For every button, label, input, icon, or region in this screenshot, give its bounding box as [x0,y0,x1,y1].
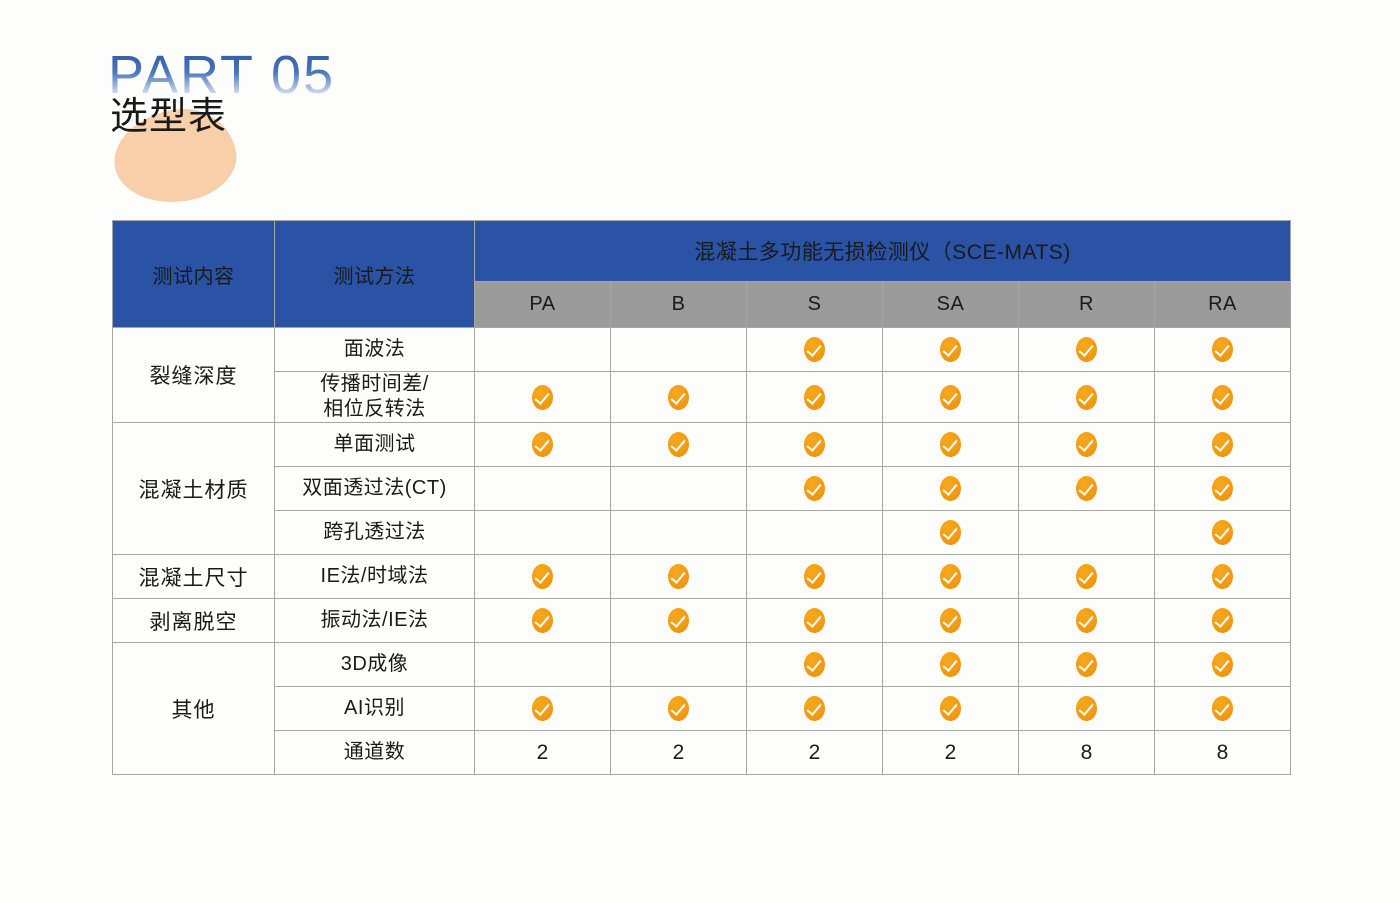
support-cell-s [747,372,883,423]
support-cell-b [611,467,747,511]
test-content-cell: 剥离脱空 [113,599,275,643]
support-cell-ra [1155,328,1291,372]
column-header-model-ra: RA [1155,282,1291,328]
check-circle-icon [532,385,553,410]
column-header-test-method: 测试方法 [275,221,475,328]
support-cell-s [747,511,883,555]
check-circle-icon [804,564,825,589]
support-cell-r [1019,328,1155,372]
support-cell-ra [1155,423,1291,467]
check-circle-icon [804,652,825,677]
support-cell-pa [475,372,611,423]
table-row: AI识别 [113,687,1291,731]
check-circle-icon [1076,432,1097,457]
check-circle-icon [1212,385,1233,410]
support-cell-b [611,599,747,643]
column-header-model-s: S [747,282,883,328]
check-circle-icon [1212,476,1233,501]
support-cell-sa [883,555,1019,599]
support-cell-pa [475,687,611,731]
check-circle-icon [1212,432,1233,457]
support-cell-s [747,643,883,687]
test-method-cell: 面波法 [275,328,475,372]
check-circle-icon [804,385,825,410]
check-circle-icon [804,432,825,457]
test-method-cell: 3D成像 [275,643,475,687]
support-cell-sa [883,372,1019,423]
check-circle-icon [940,337,961,362]
page-title: 选型表 [110,96,227,140]
support-cell-b [611,511,747,555]
support-cell-ra [1155,643,1291,687]
title-block: PART 05 选型表 [108,48,528,198]
support-cell-r [1019,687,1155,731]
check-circle-icon [532,608,553,633]
table-row: 混凝土材质单面测试 [113,423,1291,467]
check-circle-icon [1076,608,1097,633]
support-cell-ra [1155,511,1291,555]
part-number-label: PART 05 [108,48,335,102]
support-cell-r [1019,643,1155,687]
table-row: 跨孔透过法 [113,511,1291,555]
check-circle-icon [668,432,689,457]
check-circle-icon [532,432,553,457]
test-method-line: 相位反转法 [275,397,474,422]
check-circle-icon [532,696,553,721]
test-method-cell: 振动法/IE法 [275,599,475,643]
support-cell-sa [883,423,1019,467]
check-circle-icon [1212,652,1233,677]
support-cell-s [747,467,883,511]
check-circle-icon [804,696,825,721]
support-cell-r [1019,423,1155,467]
support-cell-sa [883,511,1019,555]
support-cell-ra [1155,599,1291,643]
check-circle-icon [940,696,961,721]
support-cell-b [611,687,747,731]
check-circle-icon [668,564,689,589]
test-content-cell: 裂缝深度 [113,328,275,423]
table-header: 测试内容 测试方法 混凝土多功能无损检测仪（SCE-MATS) PA B S S… [113,221,1291,328]
check-circle-icon [804,476,825,501]
support-cell-s [747,555,883,599]
support-cell-sa [883,599,1019,643]
table-row: 传播时间差/相位反转法 [113,372,1291,423]
support-cell-sa [883,467,1019,511]
table-row: 通道数222288 [113,731,1291,775]
support-cell-r [1019,467,1155,511]
check-circle-icon [940,476,961,501]
support-cell-sa: 2 [883,731,1019,775]
check-circle-icon [940,564,961,589]
check-circle-icon [1212,696,1233,721]
check-circle-icon [532,564,553,589]
support-cell-s: 2 [747,731,883,775]
support-cell-pa [475,599,611,643]
table-row: 裂缝深度面波法 [113,328,1291,372]
support-cell-ra [1155,555,1291,599]
support-cell-b [611,423,747,467]
table-row: 双面透过法(CT) [113,467,1291,511]
column-header-product-group: 混凝土多功能无损检测仪（SCE-MATS) [475,221,1291,282]
column-header-model-r: R [1019,282,1155,328]
check-circle-icon [804,608,825,633]
check-circle-icon [668,608,689,633]
check-circle-icon [668,385,689,410]
support-cell-b [611,643,747,687]
support-cell-b: 2 [611,731,747,775]
check-circle-icon [1212,337,1233,362]
support-cell-r [1019,555,1155,599]
check-circle-icon [1076,696,1097,721]
support-cell-s [747,328,883,372]
check-circle-icon [1212,520,1233,545]
check-circle-icon [940,520,961,545]
table-row: 其他3D成像 [113,643,1291,687]
test-content-cell: 混凝土尺寸 [113,555,275,599]
column-header-model-pa: PA [475,282,611,328]
check-circle-icon [1076,476,1097,501]
support-cell-s [747,687,883,731]
support-cell-pa [475,555,611,599]
column-header-model-sa: SA [883,282,1019,328]
test-content-cell: 混凝土材质 [113,423,275,555]
test-method-cell: 传播时间差/相位反转法 [275,372,475,423]
support-cell-ra: 8 [1155,731,1291,775]
support-cell-s [747,599,883,643]
support-cell-b [611,372,747,423]
support-cell-r [1019,372,1155,423]
support-cell-ra [1155,372,1291,423]
support-cell-pa [475,511,611,555]
column-header-test-content: 测试内容 [113,221,275,328]
support-cell-sa [883,328,1019,372]
table-body: 裂缝深度面波法传播时间差/相位反转法混凝土材质单面测试双面透过法(CT)跨孔透过… [113,328,1291,775]
check-circle-icon [1076,652,1097,677]
support-cell-b [611,555,747,599]
support-cell-sa [883,643,1019,687]
table-row: 混凝土尺寸IE法/时域法 [113,555,1291,599]
support-cell-r [1019,511,1155,555]
check-circle-icon [1212,608,1233,633]
support-cell-ra [1155,687,1291,731]
check-circle-icon [668,696,689,721]
test-method-cell: IE法/时域法 [275,555,475,599]
check-circle-icon [940,652,961,677]
support-cell-r [1019,599,1155,643]
support-cell-r: 8 [1019,731,1155,775]
column-header-model-b: B [611,282,747,328]
test-content-cell: 其他 [113,643,275,775]
test-method-cell: 双面透过法(CT) [275,467,475,511]
support-cell-pa [475,467,611,511]
check-circle-icon [1076,564,1097,589]
support-cell-s [747,423,883,467]
support-cell-sa [883,687,1019,731]
support-cell-pa [475,643,611,687]
check-circle-icon [804,337,825,362]
test-method-line: 传播时间差/ [275,372,474,397]
test-method-cell: 跨孔透过法 [275,511,475,555]
support-cell-pa: 2 [475,731,611,775]
check-circle-icon [1076,337,1097,362]
check-circle-icon [1212,564,1233,589]
check-circle-icon [940,385,961,410]
support-cell-ra [1155,467,1291,511]
model-selection-table: 测试内容 测试方法 混凝土多功能无损检测仪（SCE-MATS) PA B S S… [112,220,1291,775]
check-circle-icon [1076,385,1097,410]
check-circle-icon [940,608,961,633]
test-method-cell: 单面测试 [275,423,475,467]
test-method-cell: AI识别 [275,687,475,731]
check-circle-icon [940,432,961,457]
test-method-cell: 通道数 [275,731,475,775]
support-cell-pa [475,328,611,372]
support-cell-b [611,328,747,372]
table-header-row-1: 测试内容 测试方法 混凝土多功能无损检测仪（SCE-MATS) [113,221,1291,282]
table-row: 剥离脱空振动法/IE法 [113,599,1291,643]
support-cell-pa [475,423,611,467]
